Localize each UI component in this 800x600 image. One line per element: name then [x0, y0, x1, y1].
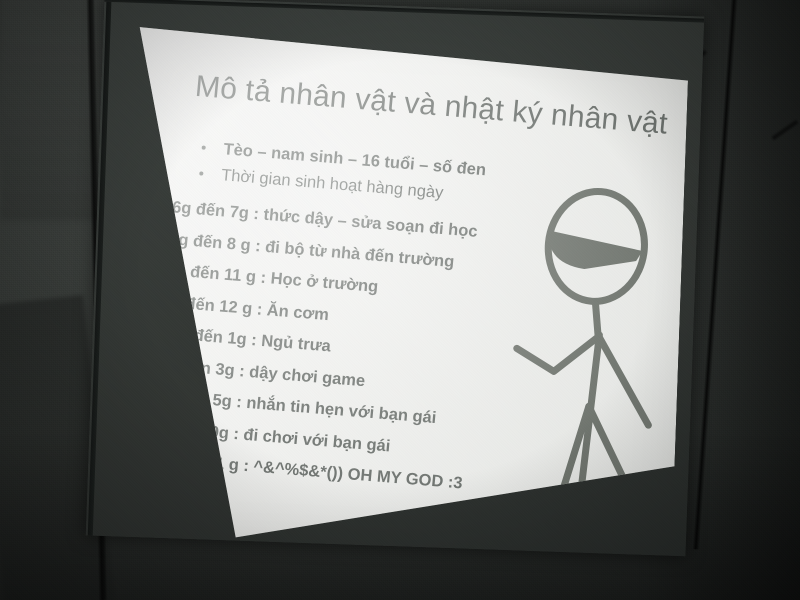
bent-left-arm	[515, 330, 598, 374]
slide-title: Mô tả nhân vật và nhật ký nhân vật	[194, 70, 669, 142]
projector-screen: Mô tả nhân vật và nhật ký nhân vật Tèo –…	[86, 0, 704, 556]
sunglasses-icon	[550, 233, 641, 272]
right-arm	[592, 337, 656, 425]
photo-screenshot: Mô tả nhân vật và nhật ký nhân vật Tèo –…	[0, 0, 800, 600]
